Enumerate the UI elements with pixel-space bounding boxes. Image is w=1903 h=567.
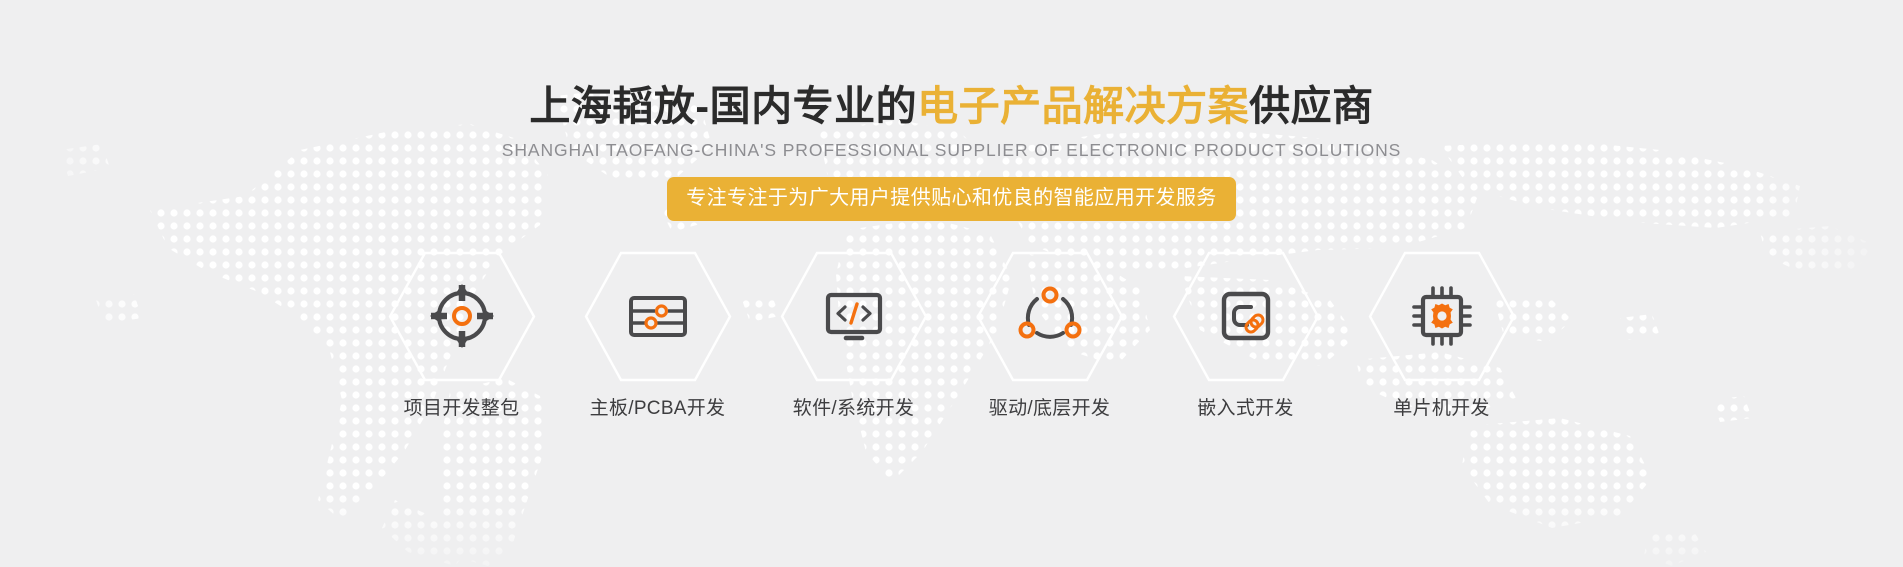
service-list: 项目开发整包	[364, 251, 1540, 418]
service-label: 嵌入式开发	[1197, 399, 1294, 418]
service-item-mcu[interactable]: 单片机开发	[1344, 251, 1540, 418]
hexagon-frame	[780, 251, 928, 382]
service-item-embedded[interactable]: 嵌入式开发	[1148, 251, 1344, 418]
hero-banner: 上海韬放-国内专业的电子产品解决方案供应商 SHANGHAI TAOFANG-C…	[0, 0, 1903, 567]
headline-accent: 电子产品解决方案	[917, 83, 1249, 129]
hexagon-frame	[1172, 251, 1320, 382]
service-label: 软件/系统开发	[793, 399, 914, 418]
headline-lead: 上海韬放-国内专业的	[529, 83, 917, 129]
mcu-gear-icon	[1407, 281, 1477, 351]
pcb-board-icon	[623, 281, 693, 351]
hexagon-frame	[1368, 251, 1516, 382]
page-title: 上海韬放-国内专业的电子产品解决方案供应商	[529, 86, 1373, 127]
crosshair-target-icon	[427, 281, 497, 351]
node-network-icon	[1015, 281, 1085, 351]
headline-tail: 供应商	[1249, 83, 1374, 129]
service-label: 主板/PCBA开发	[590, 399, 726, 418]
service-item-driver[interactable]: 驱动/底层开发	[952, 251, 1148, 418]
service-item-software[interactable]: 软件/系统开发	[756, 251, 952, 418]
hexagon-frame	[976, 251, 1124, 382]
hexagon-frame	[584, 251, 732, 382]
service-item-project-package[interactable]: 项目开发整包	[364, 251, 560, 418]
service-label: 项目开发整包	[404, 399, 520, 418]
service-label: 单片机开发	[1393, 399, 1490, 418]
chip-link-icon	[1211, 281, 1281, 351]
tagline-badge: 专注专注于为广大用户提供贴心和优良的智能应用开发服务	[667, 177, 1235, 221]
service-label: 驱动/底层开发	[989, 399, 1110, 418]
page-subtitle: SHANGHAI TAOFANG-CHINA'S PROFESSIONAL SU…	[502, 142, 1401, 160]
hexagon-frame	[388, 251, 536, 382]
monitor-code-icon	[819, 281, 889, 351]
service-item-pcba[interactable]: 主板/PCBA开发	[560, 251, 756, 418]
